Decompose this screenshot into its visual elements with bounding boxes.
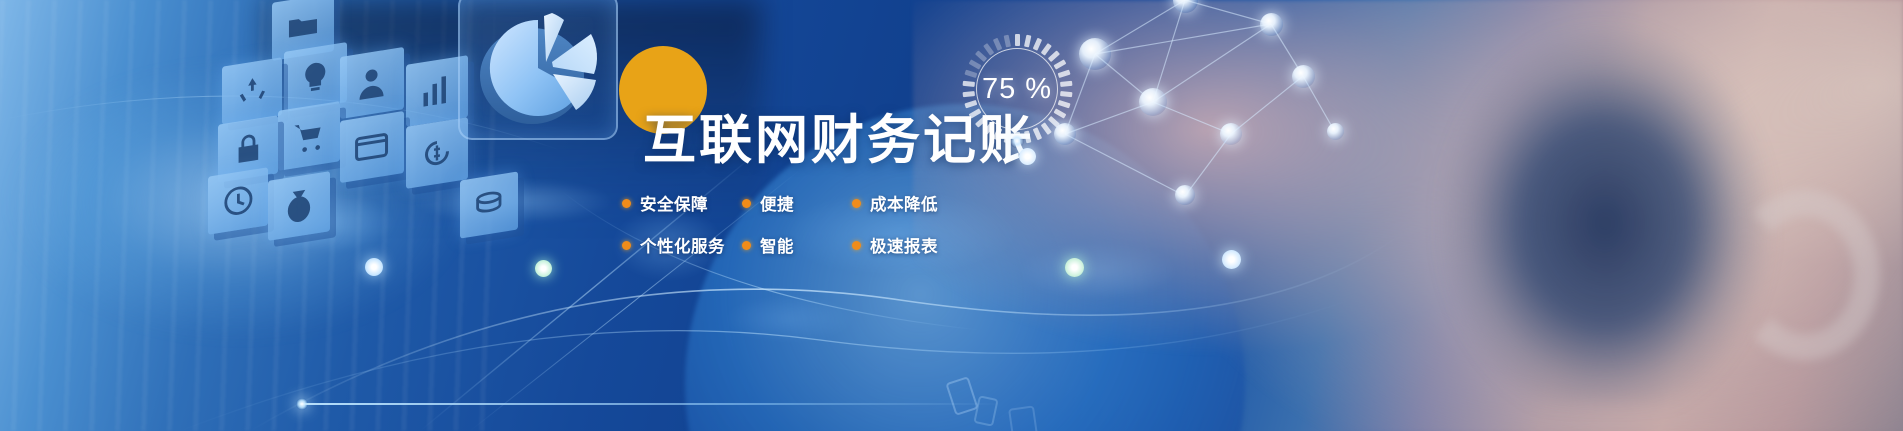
finance-banner: 互联网财务记账 安全保障 便捷 成本降低 个性化服务 智能 极速报表 xyxy=(0,0,1903,431)
person-figure-1 xyxy=(365,258,383,278)
cube-credit-card xyxy=(340,111,404,183)
credit-card-icon xyxy=(353,126,390,168)
cube-cart xyxy=(278,101,340,171)
coins-icon xyxy=(472,186,506,225)
folder-icon xyxy=(285,7,321,46)
feature-item-4[interactable]: 个性化服务 xyxy=(622,224,742,266)
feature-item-6[interactable]: 极速报表 xyxy=(852,224,938,266)
feature-label: 智能 xyxy=(760,233,794,257)
feature-label: 安全保障 xyxy=(640,191,708,215)
person-figure-4 xyxy=(1065,258,1084,279)
bottom-line-dot-icon xyxy=(296,398,308,410)
cube-money-bag xyxy=(268,171,330,241)
network-node xyxy=(1054,123,1076,145)
lock-icon xyxy=(231,129,266,168)
bar-chart-icon xyxy=(419,70,455,112)
network-node xyxy=(1139,88,1167,116)
person-figure-5 xyxy=(1222,250,1241,271)
network-node xyxy=(1220,123,1242,145)
gauge-glow-dot-icon xyxy=(1010,134,1024,148)
network-graph xyxy=(1035,0,1365,224)
feature-label: 极速报表 xyxy=(870,233,938,257)
network-node xyxy=(1079,38,1111,70)
bullet-dot-icon xyxy=(742,241,751,250)
clock-icon xyxy=(221,181,256,220)
feature-item-5[interactable]: 智能 xyxy=(742,224,852,266)
background-mug-handle xyxy=(1730,190,1880,360)
bullet-dot-icon xyxy=(622,241,631,250)
background-mug-shape xyxy=(1440,0,1770,404)
feature-list: 安全保障 便捷 成本降低 个性化服务 智能 极速报表 xyxy=(622,182,938,266)
cube-recycle xyxy=(222,57,282,125)
network-node xyxy=(1327,123,1344,140)
pie-chart xyxy=(460,0,620,142)
cube-coins xyxy=(460,171,518,238)
network-node xyxy=(1292,65,1315,88)
bullet-dot-icon xyxy=(622,199,631,208)
feature-label: 便捷 xyxy=(760,191,794,215)
person-head xyxy=(1019,148,1036,165)
bottom-progress-line xyxy=(300,403,1000,405)
shopping-cart-icon xyxy=(291,116,327,156)
cube-person xyxy=(340,47,404,119)
feature-label: 个性化服务 xyxy=(640,233,725,257)
network-node xyxy=(1260,13,1283,36)
person-head xyxy=(1222,250,1241,269)
feature-label: 成本降低 xyxy=(870,191,938,215)
feature-item-2[interactable]: 便捷 xyxy=(742,182,852,224)
person-head xyxy=(1065,258,1084,277)
person-head xyxy=(365,258,383,276)
lightbulb-icon xyxy=(297,57,334,98)
bullet-dot-icon xyxy=(742,199,751,208)
person-icon xyxy=(353,62,390,104)
person-figure-2 xyxy=(535,260,552,279)
refresh-dollar-icon xyxy=(419,132,455,174)
bullet-dot-icon xyxy=(852,199,861,208)
person-figure-3 xyxy=(1019,148,1036,167)
feature-item-3[interactable]: 成本降低 xyxy=(852,182,938,224)
feature-item-1[interactable]: 安全保障 xyxy=(622,182,742,224)
decor-rect-3 xyxy=(1008,405,1038,431)
money-bag-icon xyxy=(281,186,317,226)
pie-chart-panel xyxy=(458,0,618,140)
recycle-icon xyxy=(235,71,270,110)
bullet-dot-icon xyxy=(852,241,861,250)
network-links xyxy=(1035,0,1365,224)
cube-clock xyxy=(208,167,268,235)
icon-cube-cluster xyxy=(168,0,468,244)
network-node xyxy=(1175,185,1195,205)
person-head xyxy=(535,260,552,277)
